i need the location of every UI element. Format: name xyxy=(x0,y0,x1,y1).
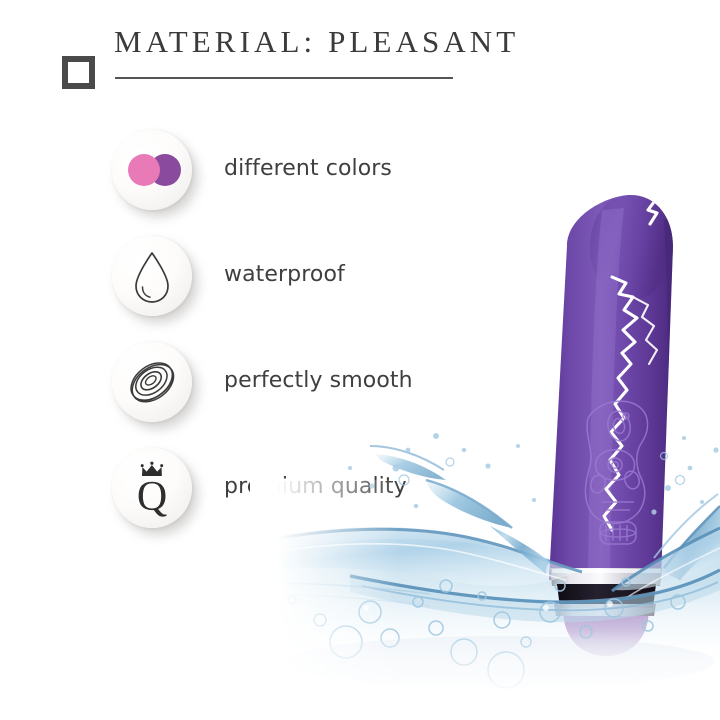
feature-badge xyxy=(112,342,192,422)
two-overlapping-circles-icon xyxy=(112,130,192,210)
product-water-scene xyxy=(250,150,720,720)
concentric-ellipses-icon xyxy=(112,342,192,422)
product-body xyxy=(549,195,677,580)
crowned-q-icon: Q xyxy=(112,448,192,528)
feature-badge xyxy=(112,236,192,316)
pool-shadow xyxy=(285,636,715,688)
pink-circle-icon xyxy=(128,154,160,186)
water-drop-icon xyxy=(112,236,192,316)
scene-svg xyxy=(250,150,720,720)
svg-text:Q: Q xyxy=(137,474,167,520)
infographic-canvas: MATERIAL: PLEASANT different colors xyxy=(0,0,720,720)
feature-badge: Q xyxy=(112,448,192,528)
feature-badge xyxy=(112,130,192,210)
